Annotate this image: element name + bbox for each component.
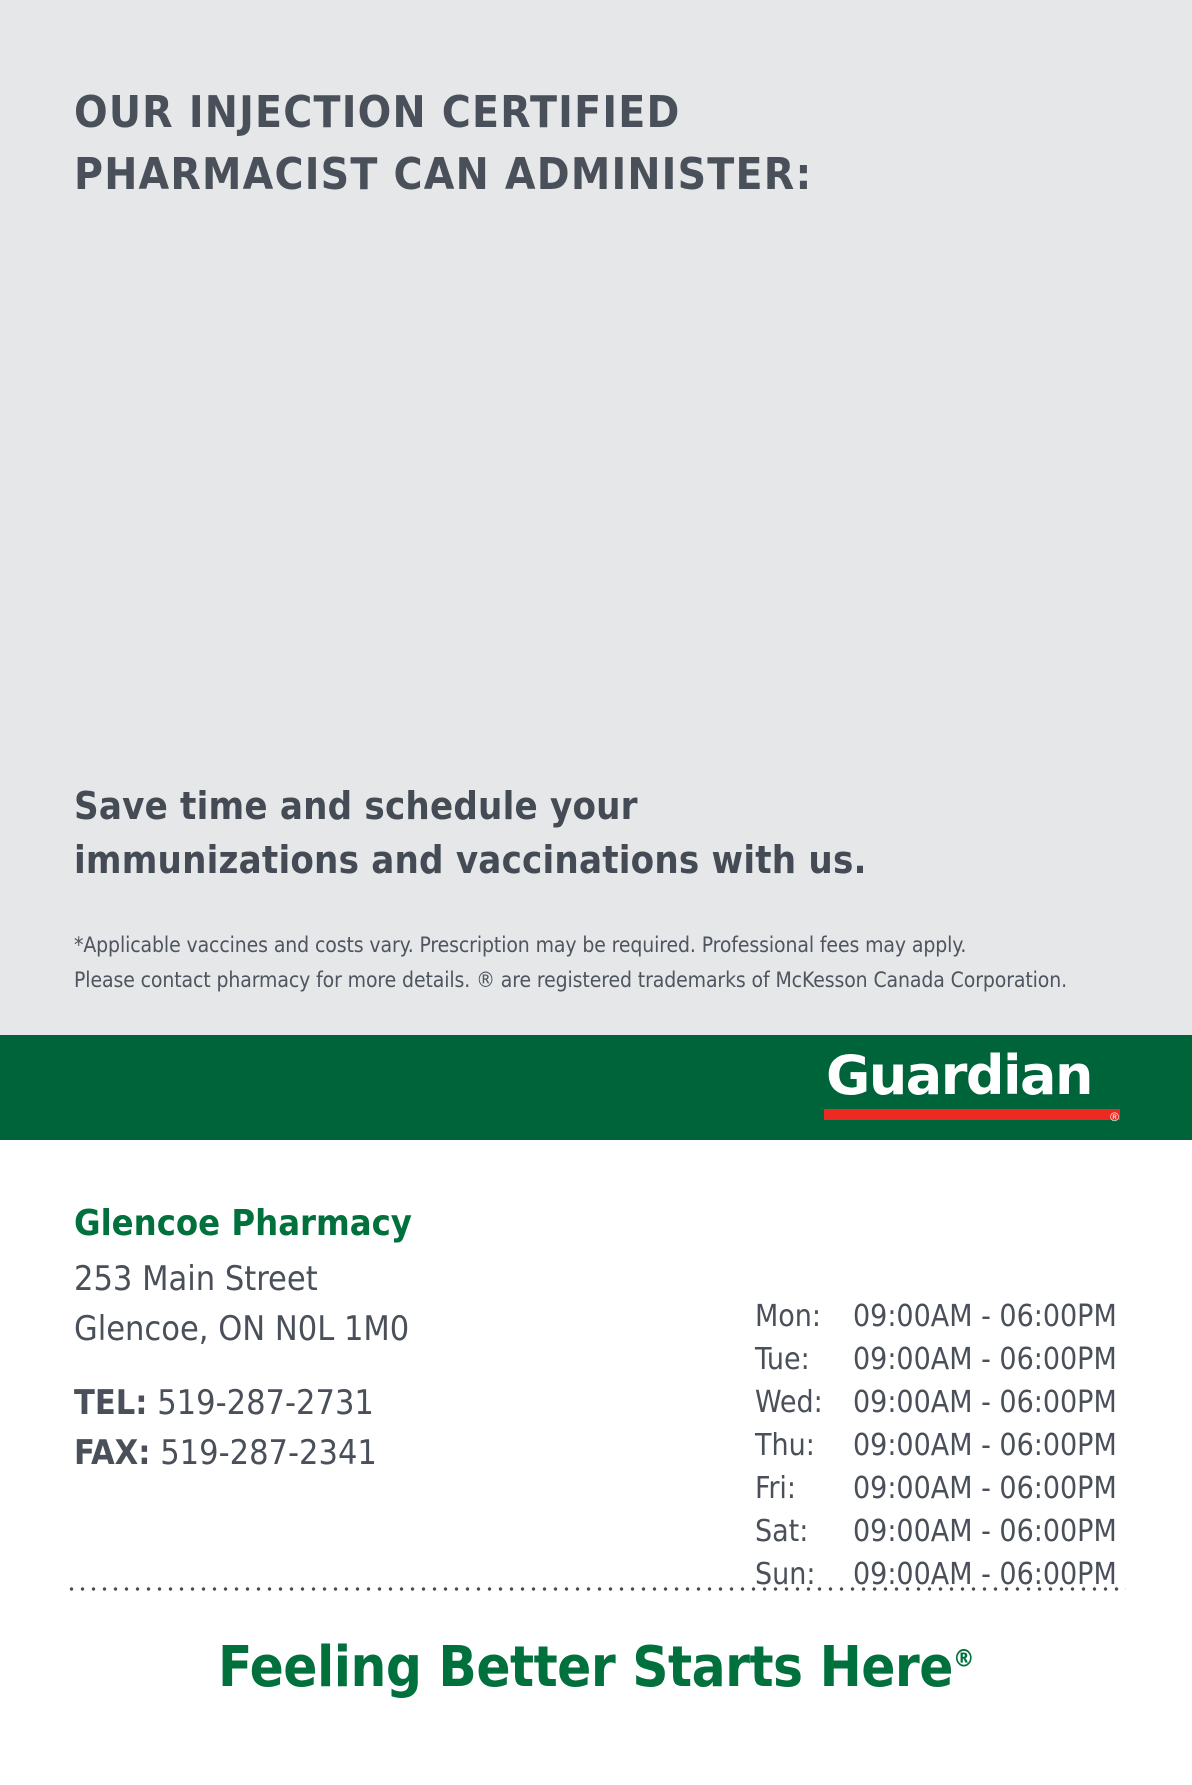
hours-row: Mon: 09:00AM - 06:00PM bbox=[755, 1295, 1155, 1338]
hours-time-value: 09:00AM - 06:00PM bbox=[853, 1467, 1155, 1510]
hours-day-label: Wed: bbox=[755, 1381, 853, 1424]
registered-trademark-icon: ® bbox=[1110, 1111, 1119, 1123]
hours-time-value: 09:00AM - 06:00PM bbox=[853, 1381, 1155, 1424]
hours-row: Tue: 09:00AM - 06:00PM bbox=[755, 1338, 1155, 1381]
disclaimer-line-2: Please contact pharmacy for more details… bbox=[74, 963, 1134, 998]
headline-line-1: OUR INJECTION CERTIFIED bbox=[74, 82, 1014, 144]
hours-time-value: 09:00AM - 06:00PM bbox=[853, 1338, 1155, 1381]
headline-line-2: PHARMACIST CAN ADMINISTER: bbox=[74, 144, 1014, 206]
store-hours-table: Mon: 09:00AM - 06:00PM Tue: 09:00AM - 06… bbox=[755, 1295, 1155, 1596]
hours-row: Thu: 09:00AM - 06:00PM bbox=[755, 1424, 1155, 1467]
hours-row: Fri: 09:00AM - 06:00PM bbox=[755, 1467, 1155, 1510]
telephone-value[interactable]: 519-287-2731 bbox=[157, 1383, 374, 1423]
store-address: 253 Main Street Glencoe, ON N0L 1M0 bbox=[74, 1254, 694, 1354]
hours-time-value: 09:00AM - 06:00PM bbox=[853, 1510, 1155, 1553]
hours-day-label: Tue: bbox=[755, 1338, 853, 1381]
dotted-divider bbox=[66, 1586, 1126, 1592]
subheadline-line-1: Save time and schedule your bbox=[74, 779, 1014, 833]
store-contact: TEL: 519-287-2731 FAX: 519-287-2341 bbox=[74, 1378, 694, 1478]
subheadline: Save time and schedule your immunization… bbox=[74, 779, 1014, 887]
hours-time-value: 09:00AM - 06:00PM bbox=[853, 1424, 1155, 1467]
promo-panel: OUR INJECTION CERTIFIED PHARMACIST CAN A… bbox=[0, 0, 1192, 1035]
hours-day-label: Thu: bbox=[755, 1424, 853, 1467]
registered-trademark-icon: ® bbox=[953, 1644, 974, 1672]
brand-tagline: Feeling Better Starts Here® bbox=[0, 1630, 1192, 1706]
telephone-row: TEL: 519-287-2731 bbox=[74, 1378, 694, 1428]
hours-day-label: Sat: bbox=[755, 1510, 853, 1553]
hours-row: Sat: 09:00AM - 06:00PM bbox=[755, 1510, 1155, 1553]
logo-underline-rule bbox=[824, 1109, 1120, 1120]
subheadline-line-2: immunizations and vaccinations with us. bbox=[74, 833, 1014, 887]
store-info: Glencoe Pharmacy 253 Main Street Glencoe… bbox=[74, 1200, 694, 1478]
address-line-1: 253 Main Street bbox=[74, 1254, 694, 1304]
hours-time-value: 09:00AM - 06:00PM bbox=[853, 1295, 1155, 1338]
address-line-2: Glencoe, ON N0L 1M0 bbox=[74, 1304, 694, 1354]
fax-value: 519-287-2341 bbox=[160, 1433, 377, 1473]
hours-row: Wed: 09:00AM - 06:00PM bbox=[755, 1381, 1155, 1424]
hours-day-label: Mon: bbox=[755, 1295, 853, 1338]
store-name: Glencoe Pharmacy bbox=[74, 1200, 694, 1248]
fax-label: FAX: bbox=[74, 1433, 151, 1473]
brand-band: Guardian ® bbox=[0, 1035, 1192, 1140]
hours-day-label: Fri: bbox=[755, 1467, 853, 1510]
guardian-logo: Guardian ® bbox=[822, 1047, 1122, 1129]
disclaimer-line-1: *Applicable vaccines and costs vary. Pre… bbox=[74, 928, 1134, 963]
page-title: OUR INJECTION CERTIFIED PHARMACIST CAN A… bbox=[74, 82, 1014, 206]
fax-row: FAX: 519-287-2341 bbox=[74, 1428, 694, 1478]
disclaimer-text: *Applicable vaccines and costs vary. Pre… bbox=[74, 928, 1134, 998]
telephone-label: TEL: bbox=[74, 1383, 148, 1423]
tagline-text: Feeling Better Starts Here bbox=[218, 1635, 953, 1700]
guardian-wordmark: Guardian bbox=[822, 1047, 1122, 1105]
